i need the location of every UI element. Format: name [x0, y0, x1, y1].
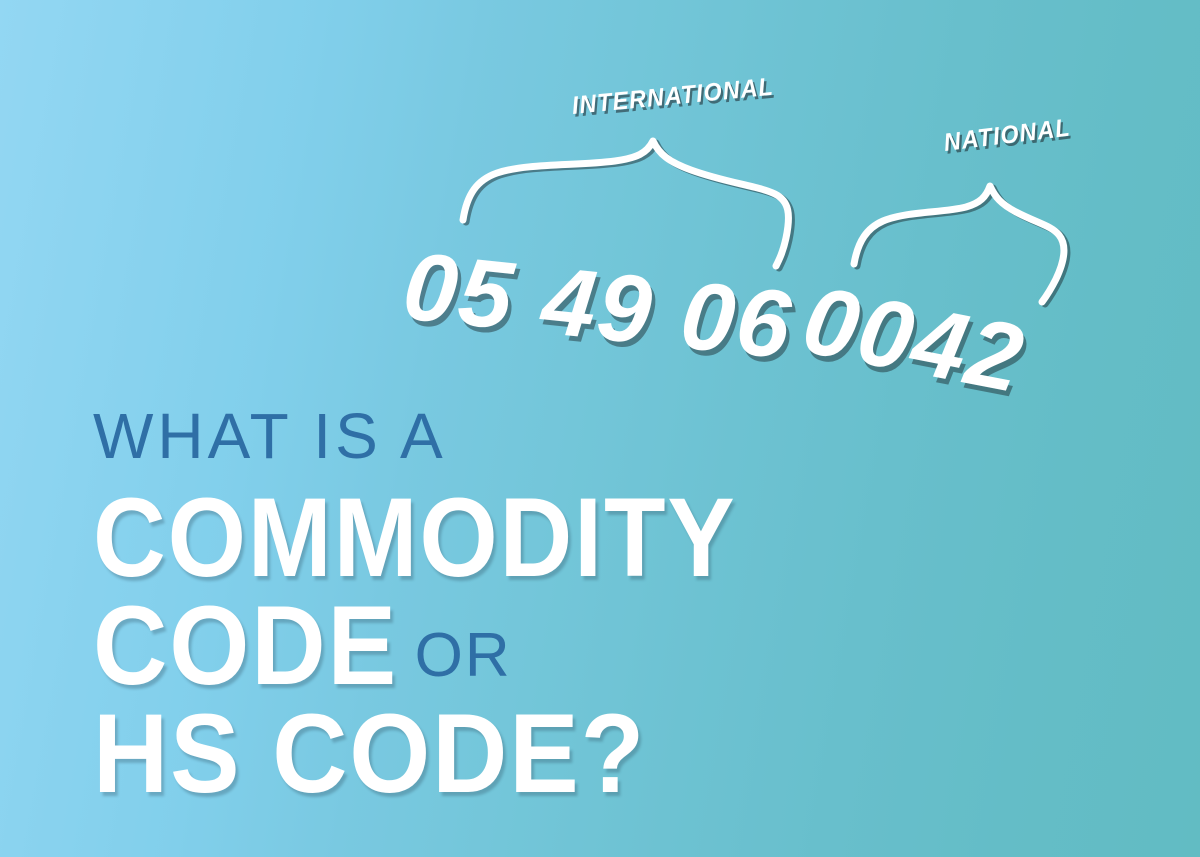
- bracket-label-international: INTERNATIONAL: [571, 73, 775, 121]
- code-digits-national: 0042: [796, 272, 1032, 409]
- headline-line-commodity: COMMODITY: [93, 482, 953, 590]
- brace-group: [0, 0, 1200, 400]
- headline-what-is-a: WHAT IS A: [93, 400, 447, 472]
- national-brace-icon: [854, 186, 1067, 304]
- code-digits-international: 05 49 06: [399, 238, 797, 374]
- headline-block: WHAT IS A COMMODITY CODEOR HS CODE?: [93, 404, 953, 808]
- international-brace-icon: [463, 141, 791, 268]
- headline-line-what: WHAT IS A: [93, 404, 953, 482]
- headline-line-hs-code: HS CODE?: [93, 698, 953, 808]
- headline-code: CODE: [93, 590, 398, 702]
- headline-or: OR: [415, 625, 512, 687]
- hs-code-breakdown-diagram: INTERNATIONAL NATIONAL 05 49 06 0042: [0, 0, 1200, 400]
- poster-canvas: INTERNATIONAL NATIONAL 05 49 06 0042 WHA…: [0, 0, 1200, 857]
- bracket-label-national: NATIONAL: [942, 114, 1072, 158]
- headline-commodity: COMMODITY: [93, 482, 736, 594]
- headline-hs-code: HS CODE?: [93, 698, 646, 810]
- headline-line-code: CODEOR: [93, 590, 953, 698]
